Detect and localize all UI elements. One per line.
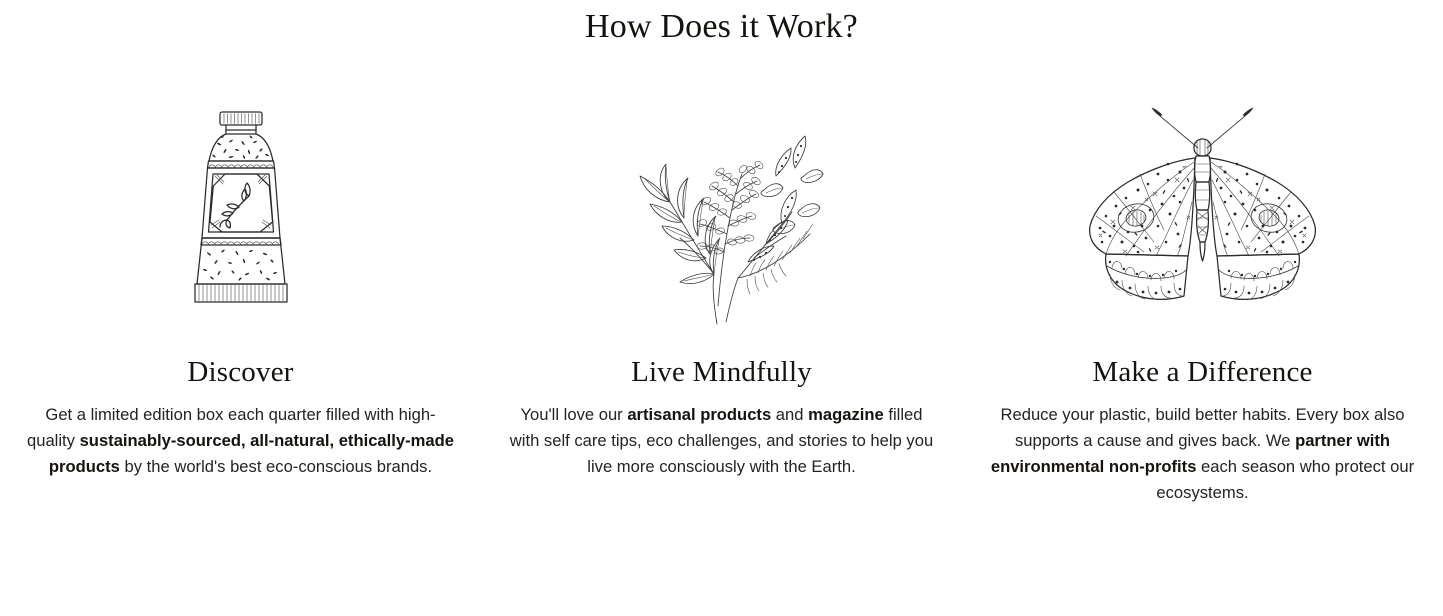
column-title-make-a-difference: Make a Difference bbox=[1092, 357, 1312, 389]
feature-column-live-mindfully: Live Mindfully You'll love our artisanal… bbox=[481, 96, 962, 480]
column-body-make-a-difference: Reduce your plastic, build better habits… bbox=[986, 402, 1419, 506]
lotion-tube-illustration bbox=[181, 96, 301, 326]
how-it-works-section: How Does it Work? bbox=[0, 0, 1443, 616]
feature-column-discover: Discover Get a limited edition box each … bbox=[0, 96, 481, 480]
column-body-live-mindfully: You'll love our artisanal products and m… bbox=[505, 402, 938, 480]
moth-illustration bbox=[1080, 96, 1325, 326]
feature-column-make-a-difference: Make a Difference Reduce your plastic, b… bbox=[962, 96, 1443, 506]
page-title: How Does it Work? bbox=[0, 0, 1443, 44]
column-title-discover: Discover bbox=[187, 357, 293, 389]
column-title-live-mindfully: Live Mindfully bbox=[631, 357, 812, 389]
feature-columns: Discover Get a limited edition box each … bbox=[0, 96, 1443, 506]
column-body-discover: Get a limited edition box each quarter f… bbox=[24, 402, 457, 480]
botanical-bouquet-illustration bbox=[614, 96, 829, 326]
